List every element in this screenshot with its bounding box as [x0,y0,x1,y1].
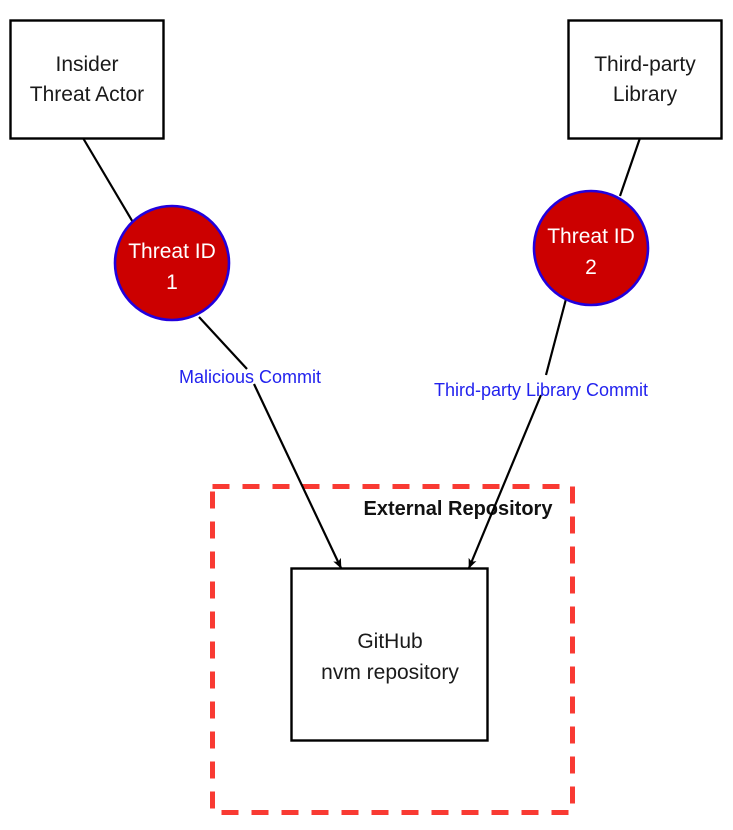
edge-malicious-commit-lower [254,384,341,568]
node-github-repository[interactable]: GitHub nvm repository [292,569,488,741]
third-party-library-box[interactable] [569,21,722,139]
third-party-library-label-line2: Library [613,83,678,106]
github-repository-label-line1: GitHub [357,630,422,653]
github-repository-label-line2: nvm repository [321,661,459,684]
third-party-library-label-line1: Third-party [594,53,696,76]
threat-diagram: External Repository Malicious Commit Thi… [0,0,733,830]
diagram-canvas: External Repository Malicious Commit Thi… [0,0,733,830]
threat-id-2-label-line2: 2 [585,256,597,279]
edge-label-malicious-commit: Malicious Commit [179,367,321,387]
threat-id-2-circle[interactable] [534,191,648,305]
threat-id-1-label-line1: Threat ID [128,240,216,263]
boundary-label: External Repository [364,498,554,520]
insider-threat-actor-label-line1: Insider [55,53,118,76]
edge-label-third-party-library-commit: Third-party Library Commit [434,380,648,400]
edge-library-to-threat2 [620,138,640,196]
edge-third-party-lower [469,395,541,568]
insider-threat-actor-box[interactable] [11,21,164,139]
edge-malicious-commit-upper [199,317,247,369]
threat-id-2-label-line1: Threat ID [547,225,635,248]
edge-third-party-upper [546,299,566,375]
insider-threat-actor-label-line2: Threat Actor [30,83,144,106]
node-threat-id-2[interactable]: Threat ID 2 [534,191,648,305]
edge-third-party-library-commit: Third-party Library Commit [434,299,648,568]
github-repository-box[interactable] [292,569,488,741]
node-insider-threat-actor[interactable]: Insider Threat Actor [11,21,164,139]
node-threat-id-1[interactable]: Threat ID 1 [115,206,229,320]
edge-insider-to-threat1 [83,138,134,224]
threat-id-1-label-line2: 1 [166,271,178,294]
edge-malicious-commit: Malicious Commit [179,317,341,568]
node-third-party-library[interactable]: Third-party Library [569,21,722,139]
threat-id-1-circle[interactable] [115,206,229,320]
